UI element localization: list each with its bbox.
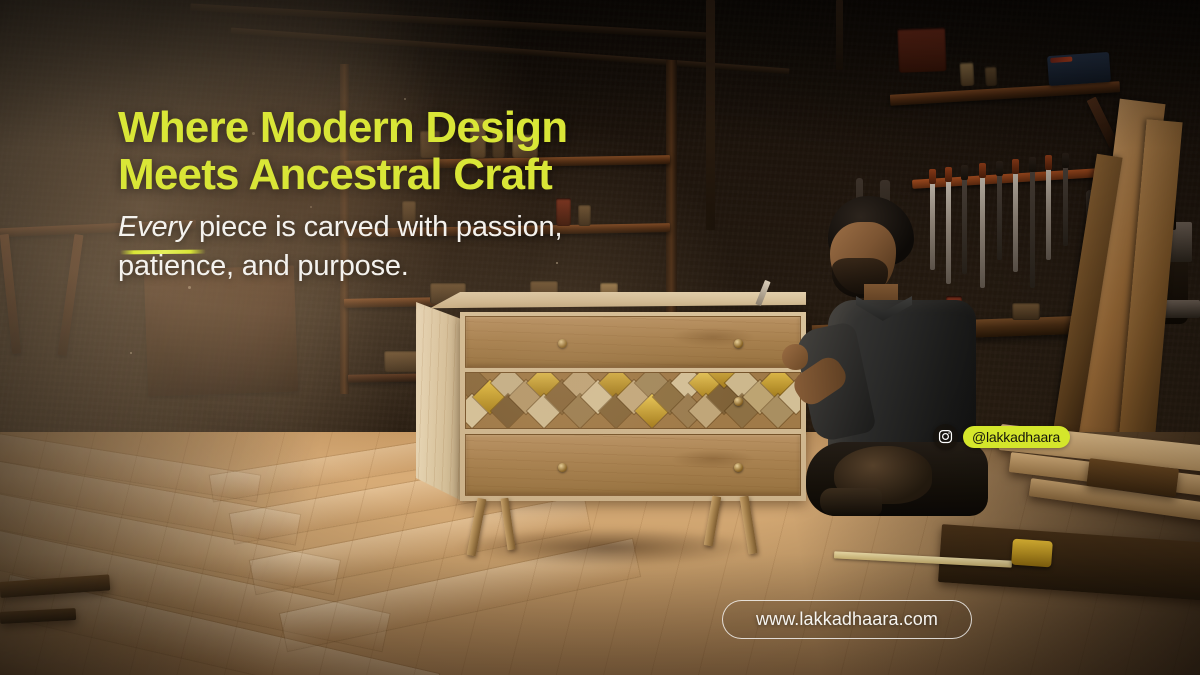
- tool-accent-stripe: [1050, 56, 1072, 63]
- tool-handle: [945, 167, 952, 182]
- drawer-knob: [734, 463, 743, 472]
- shelf-box: [897, 27, 947, 73]
- shelf-jar: [959, 62, 974, 87]
- power-tool: [1047, 52, 1111, 86]
- dresser-drawer-bottom: [465, 434, 801, 496]
- instagram-icon[interactable]: [933, 424, 958, 449]
- inlay-drawer-knob: [734, 397, 743, 406]
- measuring-tape-body: [1011, 539, 1053, 568]
- craftsman: [800, 196, 1030, 526]
- tool-handle: [1045, 155, 1052, 170]
- dresser-front: [460, 312, 806, 501]
- vertical-post: [836, 0, 843, 70]
- tool-handle: [961, 165, 968, 180]
- shelf-jar: [984, 66, 997, 87]
- drawer-knob: [734, 339, 743, 348]
- drawer-wood-grain: [466, 435, 800, 495]
- dust-speck: [404, 98, 406, 100]
- dresser-leg: [740, 496, 758, 555]
- subheadline: Every piece is carved with passion, pati…: [118, 208, 738, 285]
- instagram-handle-text[interactable]: @lakkadhaara: [963, 426, 1070, 448]
- tool-handle: [1012, 159, 1019, 174]
- headline-line-1: Where Modern Design: [118, 104, 738, 151]
- drawer-wood-grain: [466, 317, 800, 367]
- dresser-side-grain: [416, 302, 464, 502]
- headline-block: Where Modern Design Meets Ancestral Craf…: [118, 104, 738, 285]
- dresser-leg: [704, 496, 722, 547]
- file-tool: [1030, 170, 1035, 288]
- tool-handle: [929, 169, 936, 184]
- subheadline-line-1-rest: piece is carved with passion,: [191, 211, 562, 243]
- file-tool: [1063, 166, 1068, 246]
- diamond-marquetry-inlay: [465, 372, 801, 429]
- dust-speck: [188, 286, 191, 289]
- dust-speck: [130, 352, 132, 354]
- dresser-leg: [467, 498, 487, 557]
- craftsman-shoe: [820, 488, 882, 516]
- subheadline-emphasis: Every: [118, 208, 191, 247]
- dresser-drawer-top: [465, 316, 801, 368]
- website-url-pill[interactable]: www.lakkadhaara.com: [722, 600, 972, 639]
- tool-handle: [996, 161, 1003, 176]
- dresser-leg: [500, 498, 515, 551]
- drawer-knob: [558, 463, 567, 472]
- instagram-handle-badge[interactable]: @lakkadhaara: [933, 424, 1070, 449]
- workshop-scene: [0, 0, 1200, 675]
- dresser-product: [416, 292, 806, 557]
- tool-handle: [979, 163, 986, 178]
- tool-handle: [1029, 157, 1036, 172]
- tool-handle: [1062, 153, 1069, 168]
- promotional-banner: Where Modern Design Meets Ancestral Craf…: [0, 0, 1200, 675]
- craftsman-hand: [782, 344, 808, 370]
- drawer-knob: [558, 339, 567, 348]
- chisel-tool: [1046, 168, 1051, 260]
- headline-line-2: Meets Ancestral Craft: [118, 151, 738, 198]
- website-url-text: www.lakkadhaara.com: [756, 609, 938, 630]
- subheadline-line-2: patience, and purpose.: [118, 250, 409, 282]
